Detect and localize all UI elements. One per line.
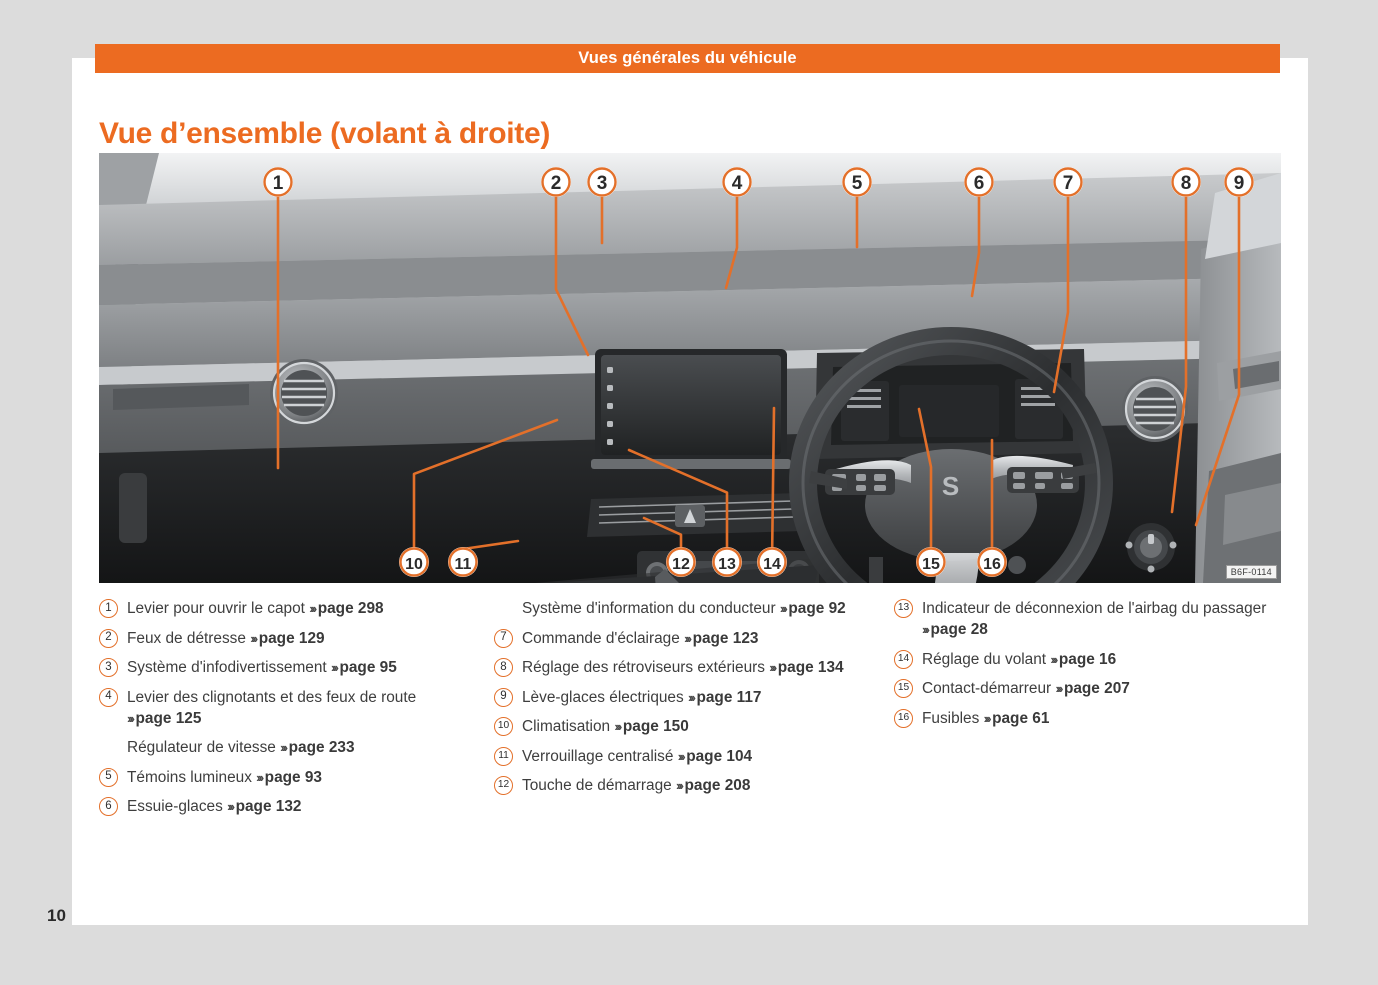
legend-item: 15Contact-démarreur ›››page 207 <box>894 678 1284 699</box>
legend-item-label: Contact-démarreur <box>922 680 1055 697</box>
figure-code: B6F-0114 <box>1226 565 1277 579</box>
legend-page-reference[interactable]: ›››page 92 <box>780 600 846 617</box>
legend-item-label: Indicateur de déconnexion de l'airbag du… <box>922 600 1266 617</box>
legend-page-reference[interactable]: ›››page 117 <box>688 689 762 706</box>
svg-text:S: S <box>942 471 960 501</box>
page-title: Vue d’ensemble (volant à droite) <box>99 117 550 151</box>
legend-item: 14Réglage du volant ›››page 16 <box>894 649 1284 670</box>
legend-item-text: Essuie-glaces ›››page 132 <box>127 796 494 817</box>
legend-bullet-8: 8 <box>494 658 513 677</box>
page-number: 10 <box>47 906 66 926</box>
legend-item-label: Témoins lumineux <box>127 769 256 786</box>
chevron-right-icon: ››› <box>984 711 993 726</box>
legend-item-text: Touche de démarrage ›››page 208 <box>522 775 894 796</box>
legend-item: 12Touche de démarrage ›››page 208 <box>494 775 894 796</box>
legend-column-3: 13Indicateur de déconnexion de l'airbag … <box>894 598 1284 826</box>
callout-number: 10 <box>405 556 423 573</box>
legend-item-label: Commande d'éclairage <box>522 630 684 647</box>
legend-item-label: Touche de démarrage <box>522 777 676 794</box>
legend-item-text: Lève-glaces électriques ›››page 117 <box>522 687 894 708</box>
legend-item-label: Régulateur de vitesse <box>127 739 280 756</box>
legend-bullet-4: 4 <box>99 688 118 707</box>
legend-item-label: Fusibles <box>922 710 984 727</box>
legend-column-2: Système d'information du conducteur ›››p… <box>494 598 894 826</box>
legend-item-label: Réglage du volant <box>922 651 1050 668</box>
legend-bullet-15: 15 <box>894 679 913 698</box>
legend-page-label: page 134 <box>778 659 844 676</box>
chevron-right-icon: ››› <box>676 778 685 793</box>
legend-page-label: page 16 <box>1059 651 1116 668</box>
legend-page-label: page 208 <box>685 777 751 794</box>
legend-page-reference[interactable]: ›››page 93 <box>256 769 322 786</box>
callout-number: 5 <box>852 173 863 194</box>
legend-page-label: page 95 <box>339 659 396 676</box>
callout-number: 16 <box>983 556 1001 573</box>
legend-item-text: Levier des clignotants et des feux de ro… <box>127 687 494 729</box>
legend-item-text: Indicateur de déconnexion de l'airbag du… <box>922 598 1284 640</box>
legend-page-reference[interactable]: ›››page 16 <box>1050 651 1116 668</box>
callout-number: 4 <box>732 173 743 194</box>
chevron-right-icon: ››› <box>1050 652 1059 667</box>
centre-vents <box>587 493 803 537</box>
legend-item-text: Système d'infodivertissement ›››page 95 <box>127 657 494 678</box>
legend-page-reference[interactable]: ›››page 298 <box>309 600 383 617</box>
legend-item-label: Levier des clignotants et des feux de ro… <box>127 689 416 706</box>
legend-item-label: Système d'infodivertissement <box>127 659 331 676</box>
legend-bullet-1: 1 <box>99 599 118 618</box>
legend-item-label: Essuie-glaces <box>127 798 227 815</box>
legend-bullet-13: 13 <box>894 599 913 618</box>
legend-item-label: Système d'information du conducteur <box>522 600 780 617</box>
legend-column-1: 1Levier pour ouvrir le capot ›››page 298… <box>99 598 494 826</box>
legend-page-label: page 93 <box>265 769 322 786</box>
legend-page-label: page 125 <box>136 710 202 727</box>
legend-bullet-empty <box>494 599 513 618</box>
legend-item-text: Témoins lumineux ›››page 93 <box>127 767 494 788</box>
legend-item-text: Climatisation ›››page 150 <box>522 716 894 737</box>
legend-page-reference[interactable]: ›››page 233 <box>280 739 354 756</box>
legend-item: 2Feux de détresse ›››page 129 <box>99 628 494 649</box>
chevron-right-icon: ››› <box>614 719 623 734</box>
callout-number: 6 <box>974 173 985 194</box>
legend-item-text: Système d'information du conducteur ›››p… <box>522 598 894 619</box>
legend-item-text: Verrouillage centralisé ›››page 104 <box>522 746 894 767</box>
legend-item: 6Essuie-glaces ›››page 132 <box>99 796 494 817</box>
chevron-right-icon: ››› <box>256 770 265 785</box>
vent-left-icon <box>270 359 338 427</box>
callout-number: 7 <box>1063 173 1074 194</box>
legend-item-text: Fusibles ›››page 61 <box>922 708 1284 729</box>
legend-page-label: page 233 <box>289 739 355 756</box>
legend-bullet-10: 10 <box>494 717 513 736</box>
legend-item: Régulateur de vitesse ›››page 233 <box>99 737 494 758</box>
steering-adjust-lever <box>869 557 883 583</box>
legend-item-label: Levier pour ouvrir le capot <box>127 600 309 617</box>
legend-page-label: page 123 <box>693 630 759 647</box>
legend-item-label: Réglage des rétroviseurs extérieurs <box>522 659 769 676</box>
legend-bullet-5: 5 <box>99 768 118 787</box>
legend-item: 1Levier pour ouvrir le capot ›››page 298 <box>99 598 494 619</box>
chevron-right-icon: ››› <box>280 740 289 755</box>
running-header-bar: Vues générales du véhicule <box>95 44 1280 73</box>
legend-item-label: Verrouillage centralisé <box>522 748 678 765</box>
legend-page-label: page 28 <box>931 621 988 638</box>
legend-item-label: Climatisation <box>522 718 614 735</box>
legend-page-label: page 104 <box>686 748 752 765</box>
running-header-title: Vues générales du véhicule <box>578 49 796 68</box>
legend-item: Système d'information du conducteur ›››p… <box>494 598 894 619</box>
legend-bullet-16: 16 <box>894 709 913 728</box>
legend-item: 5Témoins lumineux ›››page 93 <box>99 767 494 788</box>
legend-item: 8Réglage des rétroviseurs extérieurs ›››… <box>494 657 894 678</box>
legend-page-reference[interactable]: ›››page 134 <box>769 659 843 676</box>
legend-item: 3Système d'infodivertissement ›››page 95 <box>99 657 494 678</box>
legend-bullet-11: 11 <box>494 747 513 766</box>
callout-number: 11 <box>455 556 472 573</box>
legend-page-label: page 150 <box>623 718 689 735</box>
callout-number: 3 <box>597 173 608 194</box>
callout-number: 1 <box>273 173 284 194</box>
legend-page-reference[interactable]: ›››page 104 <box>678 748 752 765</box>
legend-page-label: page 117 <box>696 689 761 706</box>
legend-item-text: Réglage du volant ›››page 16 <box>922 649 1284 670</box>
legend-page-reference[interactable]: ›››page 150 <box>614 718 688 735</box>
legend-page-reference[interactable]: ›››page 95 <box>331 659 397 676</box>
legend-item-text: Contact-démarreur ›››page 207 <box>922 678 1284 699</box>
legend-page-reference[interactable]: ›››page 132 <box>227 798 301 815</box>
callout-number: 8 <box>1181 173 1192 194</box>
legend-page-label: page 132 <box>236 798 302 815</box>
legend-item: 13Indicateur de déconnexion de l'airbag … <box>894 598 1284 640</box>
chevron-right-icon: ››› <box>678 749 687 764</box>
callout-number: 13 <box>718 556 736 573</box>
legend-bullet-12: 12 <box>494 776 513 795</box>
legend-page-label: page 207 <box>1064 680 1130 697</box>
chevron-right-icon: ››› <box>309 601 318 616</box>
legend-bullet-9: 9 <box>494 688 513 707</box>
callout-number: 12 <box>672 556 690 573</box>
callout-number: 9 <box>1234 173 1245 194</box>
legend-page-label: page 92 <box>788 600 845 617</box>
chevron-right-icon: ››› <box>227 799 236 814</box>
legend-page-reference[interactable]: ›››page 208 <box>676 777 750 794</box>
dashboard-figure: S <box>99 153 1281 583</box>
chevron-right-icon: ››› <box>127 711 136 726</box>
legend-item-text: Commande d'éclairage ›››page 123 <box>522 628 894 649</box>
chevron-right-icon: ››› <box>250 631 259 646</box>
callout-number: 2 <box>551 173 562 194</box>
callout-number: 15 <box>922 556 940 573</box>
legend-page-reference[interactable]: ›››page 61 <box>984 710 1050 727</box>
legend-page-reference[interactable]: ›››page 123 <box>684 630 758 647</box>
chevron-right-icon: ››› <box>684 631 693 646</box>
legend-item-label: Feux de détresse <box>127 630 250 647</box>
legend-item-label: Lève-glaces électriques <box>522 689 688 706</box>
legend-bullet-empty <box>99 738 118 757</box>
legend-page-reference[interactable]: ›››page 125 <box>127 710 201 727</box>
legend-item: 16Fusibles ›››page 61 <box>894 708 1284 729</box>
ignition-switch <box>1008 556 1026 574</box>
legend-page-label: page 129 <box>259 630 325 647</box>
legend-item: 7Commande d'éclairage ›››page 123 <box>494 628 894 649</box>
legend-bullet-3: 3 <box>99 658 118 677</box>
chevron-right-icon: ››› <box>769 660 778 675</box>
figure-legend: 1Levier pour ouvrir le capot ›››page 298… <box>99 598 1284 826</box>
chevron-right-icon: ››› <box>1055 681 1064 696</box>
vent-right-icon <box>1122 376 1188 442</box>
chevron-right-icon: ››› <box>922 622 931 637</box>
legend-bullet-2: 2 <box>99 629 118 648</box>
legend-page-reference[interactable]: ›››page 28 <box>922 621 988 638</box>
legend-item-text: Régulateur de vitesse ›››page 233 <box>127 737 494 758</box>
legend-item: 9Lève-glaces électriques ›››page 117 <box>494 687 894 708</box>
legend-item: 4Levier des clignotants et des feux de r… <box>99 687 494 729</box>
legend-item-text: Feux de détresse ›››page 129 <box>127 628 494 649</box>
legend-item-text: Levier pour ouvrir le capot ›››page 298 <box>127 598 494 619</box>
infotainment-screen <box>591 349 791 469</box>
legend-bullet-14: 14 <box>894 650 913 669</box>
callout-number: 14 <box>763 556 781 573</box>
legend-page-label: page 61 <box>992 710 1049 727</box>
legend-page-reference[interactable]: ›››page 207 <box>1055 680 1129 697</box>
legend-item: 10Climatisation ›››page 150 <box>494 716 894 737</box>
legend-item: 11Verrouillage centralisé ›››page 104 <box>494 746 894 767</box>
legend-bullet-7: 7 <box>494 629 513 648</box>
dashboard-illustration: S <box>99 153 1281 583</box>
legend-item-text: Réglage des rétroviseurs extérieurs ›››p… <box>522 657 894 678</box>
legend-page-reference[interactable]: ›››page 129 <box>250 630 324 647</box>
legend-page-label: page 298 <box>318 600 384 617</box>
legend-bullet-6: 6 <box>99 797 118 816</box>
